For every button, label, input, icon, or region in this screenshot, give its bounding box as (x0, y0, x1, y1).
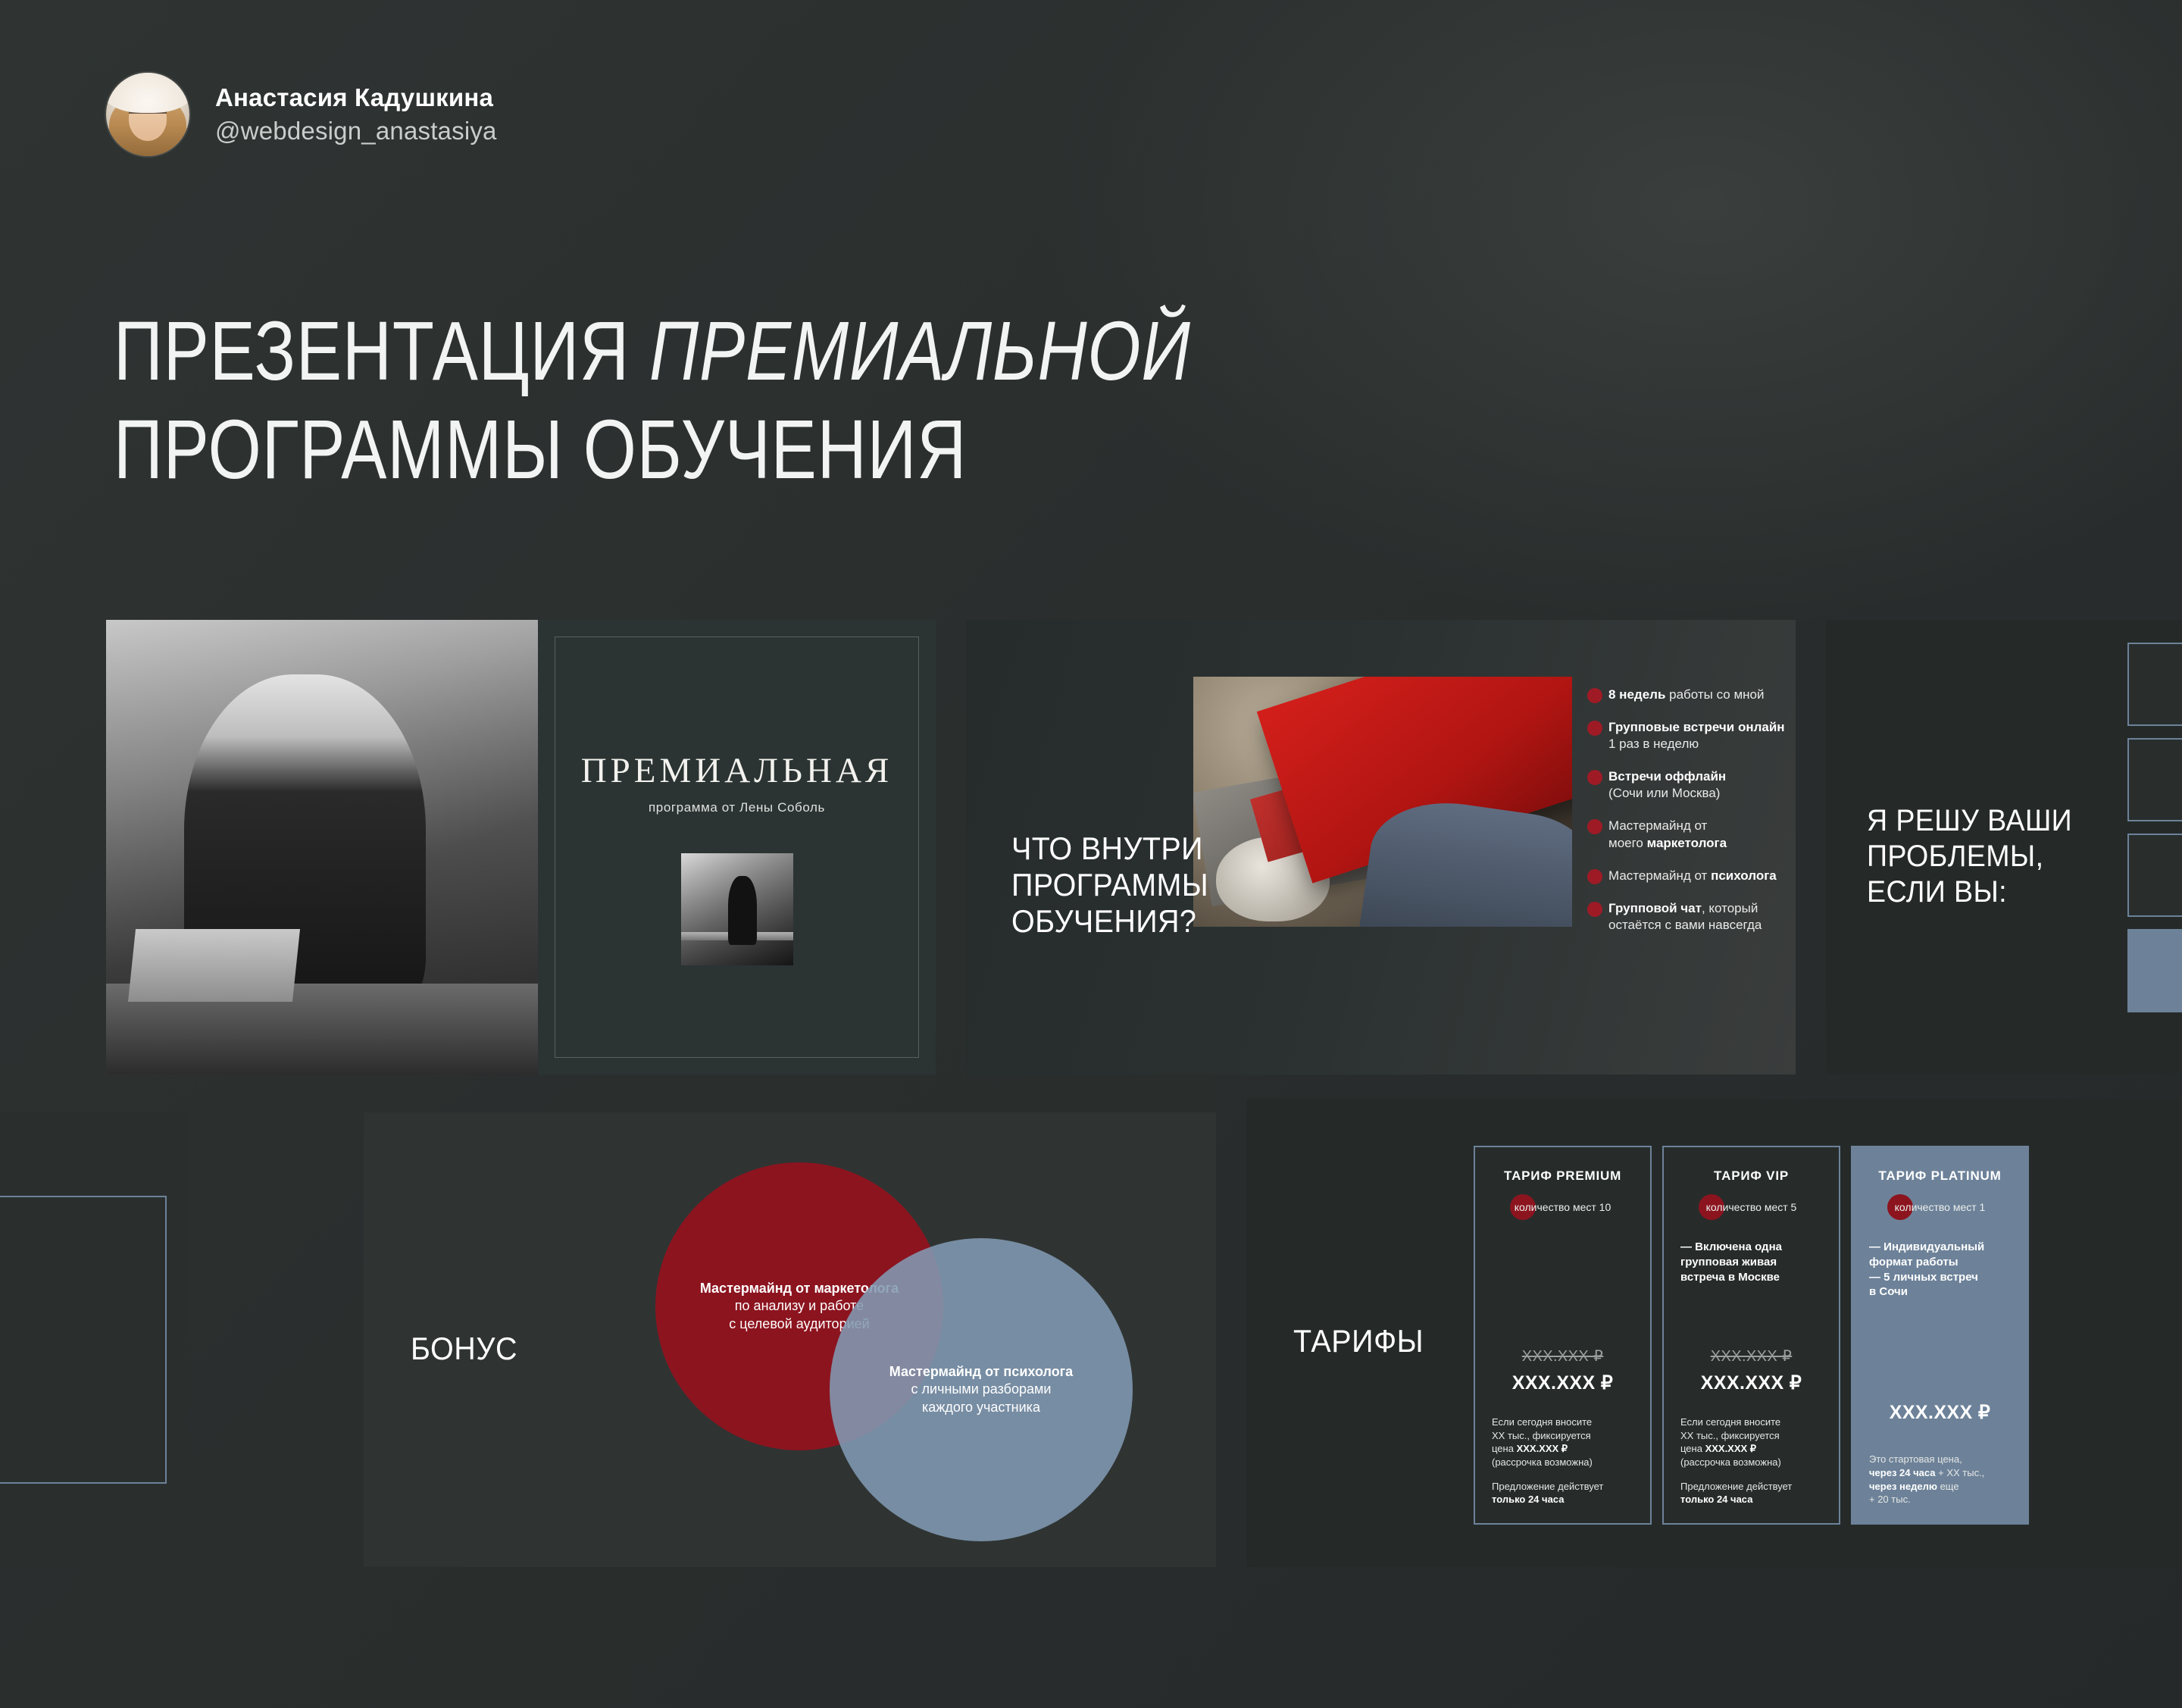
author-header: Анастасия Кадушкина @webdesign_anastasiy… (106, 73, 497, 156)
tariffs-cards: ТАРИФ PREMIUMколичество мест 10XXX.XXX ₽… (1474, 1146, 2029, 1525)
tariff-new-price: XXX.XXX ₽ (1492, 1372, 1633, 1394)
cover-photo-laptop (128, 929, 300, 1002)
tariff-name: ТАРИФ PLATINUM (1869, 1168, 2011, 1184)
problems-heading: Я РЕШУ ВАШИПРОБЛЕМЫ,ЕСЛИ ВЫ: (1867, 803, 2072, 911)
problem-box (2127, 929, 2182, 1012)
problems-heading-line: Я РЕШУ ВАШИ (1867, 803, 2072, 839)
tariff-note: Если сегодня вноситеXX тыс., фиксируется… (1680, 1416, 1822, 1506)
venn-psychologist-bold: Мастермайнд от психолога (889, 1364, 1073, 1379)
program-heading-line: ПРОГРАММЫ (1011, 867, 1208, 903)
bullet-dot-icon (1587, 869, 1602, 884)
cover-inner: ПРЕМИАЛЬНАЯ программа от Лены Соболь (538, 729, 936, 965)
bonus-heading: БОНУС (411, 1331, 517, 1367)
venn-circle-psychologist: Мастермайнд от психологас личными разбор… (830, 1238, 1133, 1541)
tariff-seats: количество мест 1 (1869, 1194, 2011, 1220)
program-list-item: 8 недель работы со мной (1587, 687, 1792, 703)
tariff-features: — Индивидуальныйформат работы— 5 личных … (1869, 1240, 2011, 1300)
cover-inner-photo-person (728, 876, 757, 946)
program-list: 8 недель работы со мнойГрупповые встречи… (1587, 687, 1792, 949)
venn-circle-psychologist-text: Мастермайнд от психологас личными разбор… (868, 1363, 1094, 1416)
program-list-item: Мастермайнд от психолога (1587, 868, 1792, 884)
program-list-item-text: 8 недель работы со мной (1608, 687, 1792, 703)
slide-problems[interactable]: Я РЕШУ ВАШИПРОБЛЕМЫ,ЕСЛИ ВЫ: УсхотиХоти … (1826, 620, 2182, 1075)
tariffs-heading: ТАРИФЫ (1293, 1323, 1424, 1359)
slide-bonus[interactable]: БОНУС Мастермайнд от маркетологапо анали… (364, 1112, 1216, 1567)
program-list-item: Групповой чат, которыйостаётся с вами на… (1587, 900, 1792, 934)
tariff-old-price: XXX.XXX ₽ (1680, 1347, 1822, 1365)
bonus-venn-diagram: Мастермайнд от маркетологапо анализу и р… (591, 1129, 1197, 1553)
bullet-dot-icon (1587, 721, 1602, 736)
program-heading-line: ЧТО ВНУТРИ (1011, 831, 1208, 867)
page-title: ПРЕЗЕНТАЦИЯ ПРЕМИАЛЬНОЙ ПРОГРАММЫ ОБУЧЕН… (114, 311, 1191, 491)
program-list-item-text: Мастермайнд от психолога (1608, 868, 1792, 884)
tariff-seats: количество мест 10 (1492, 1194, 1633, 1220)
program-heading: ЧТО ВНУТРИПРОГРАММЫОБУЧЕНИЯ? (1011, 831, 1208, 940)
program-list-item-text: Встречи оффлайн(Сочи или Москва) (1608, 768, 1792, 802)
bullet-dot-icon (1587, 688, 1602, 703)
cover-photo (106, 620, 538, 1075)
problems-heading-line: ЕСЛИ ВЫ: (1867, 874, 2072, 910)
cover-inner-photo (681, 853, 793, 965)
problem-box: Хоти обэто п (2127, 738, 2182, 821)
tariff-new-price: XXX.XXX ₽ (1869, 1401, 2011, 1424)
guarantee-frame (0, 1196, 167, 1484)
avatar-hat (106, 73, 189, 113)
slide-tariffs[interactable]: ТАРИФЫ ТАРИФ PREMIUMколичество мест 10XX… (1246, 1099, 2182, 1567)
author-name: Анастасия Кадушкина (215, 83, 497, 112)
tariff-note: Это стартовая цена,через 24 часа + XX ты… (1869, 1453, 2011, 1506)
tariff-features: — Включена однагрупповая живаявстреча в … (1680, 1240, 1822, 1284)
program-list-item: Встречи оффлайн(Сочи или Москва) (1587, 768, 1792, 802)
tariff-prices: XXX.XXX ₽XXX.XXX ₽ (1680, 1347, 1822, 1394)
title-line2: ПРОГРАММЫ ОБУЧЕНИЯ (114, 409, 1191, 491)
program-list-item-text: Групповые встречи онлайн1 раз в неделю (1608, 719, 1792, 752)
author-handle: @webdesign_anastasiya (215, 117, 497, 145)
tariff-prices: XXX.XXX ₽ (1869, 1395, 2011, 1424)
slide-cover[interactable]: ПРЕМИАЛЬНАЯ программа от Лены Соболь (106, 620, 936, 1075)
presentation-canvas: Анастасия Кадушкина @webdesign_anastasiy… (0, 0, 2182, 1708)
bullet-dot-icon (1587, 819, 1602, 834)
problem-box (2127, 834, 2182, 917)
tariff-seats: количество мест 5 (1680, 1194, 1822, 1220)
tariff-card[interactable]: ТАРИФ VIPколичество мест 5— Включена одн… (1662, 1146, 1840, 1525)
tariff-prices: XXX.XXX ₽XXX.XXX ₽ (1492, 1347, 1633, 1394)
tariff-name: ТАРИФ VIP (1680, 1168, 1822, 1184)
tariff-card[interactable]: ТАРИФ PREMIUMколичество мест 10XXX.XXX ₽… (1474, 1146, 1652, 1525)
bullet-dot-icon (1587, 902, 1602, 917)
tariff-name: ТАРИФ PREMIUM (1492, 1168, 1633, 1184)
tariff-seats-label: количество мест 10 (1515, 1201, 1611, 1213)
title-line1-emphasis: ПРЕМИАЛЬНОЙ (649, 305, 1191, 398)
slide-program-contents[interactable]: ЧТО ВНУТРИПРОГРАММЫОБУЧЕНИЯ? 8 недель ра… (966, 620, 1796, 1075)
tariff-seats-label: количество мест 1 (1895, 1201, 1986, 1213)
program-list-item-text: Мастермайнд отмоего маркетолога (1608, 818, 1792, 851)
bullet-dot-icon (1587, 770, 1602, 785)
problem-box: Усхоти (2127, 643, 2182, 726)
program-list-item-text: Групповой чат, которыйостаётся с вами на… (1608, 900, 1792, 934)
tariff-note: Если сегодня вноситеXX тыс., фиксируется… (1492, 1416, 1633, 1506)
author-text: Анастасия Кадушкина @webdesign_anastasiy… (215, 83, 497, 145)
slide-guarantee[interactable]: БЕЗ %АЖДАНУСИ) (0, 1112, 189, 1567)
tariff-new-price: XXX.XXX ₽ (1680, 1372, 1822, 1394)
cover-panel: ПРЕМИАЛЬНАЯ программа от Лены Соболь (538, 620, 936, 1075)
tariff-old-price: XXX.XXX ₽ (1492, 1347, 1633, 1365)
program-photo (1193, 677, 1572, 927)
cover-title: ПРЕМИАЛЬНАЯ (538, 750, 936, 791)
tariff-card[interactable]: ТАРИФ PLATINUMколичество мест 1— Индивид… (1851, 1146, 2029, 1525)
title-line1-plain: ПРЕЗЕНТАЦИЯ (114, 305, 649, 398)
problems-heading-line: ПРОБЛЕМЫ, (1867, 839, 2072, 874)
problems-boxes: УсхотиХоти обэто п (2127, 643, 2182, 1024)
tariff-seats-label: количество мест 5 (1706, 1201, 1797, 1213)
program-heading-line: ОБУЧЕНИЯ? (1011, 903, 1208, 940)
cover-subtitle: программа от Лены Соболь (538, 800, 936, 815)
program-list-item: Мастермайнд отмоего маркетолога (1587, 818, 1792, 851)
avatar (106, 73, 189, 156)
program-list-item: Групповые встречи онлайн1 раз в неделю (1587, 719, 1792, 752)
